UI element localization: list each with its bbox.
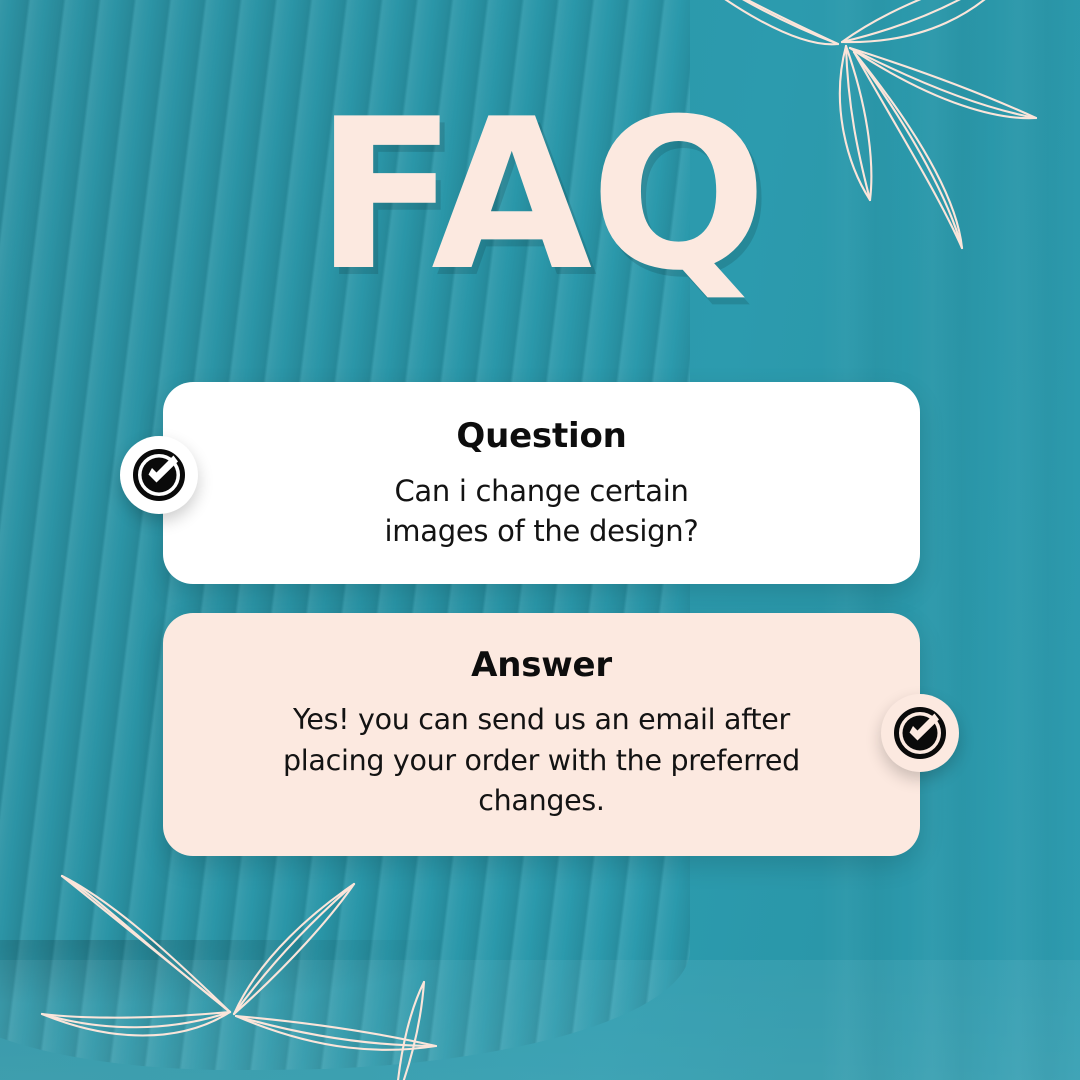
question-heading: Question — [219, 416, 864, 457]
faq-graphic: FAQ Question Can i change certain images… — [0, 0, 1080, 1080]
check-circle-icon — [131, 447, 187, 503]
question-card: Question Can i change certain images of … — [163, 382, 920, 584]
question-body: Can i change certain images of the desig… — [219, 471, 864, 551]
answer-card: Answer Yes! you can send us an email aft… — [163, 613, 920, 856]
question-check-badge — [120, 436, 198, 514]
answer-heading: Answer — [219, 645, 864, 686]
answer-body: Yes! you can send us an email after plac… — [219, 700, 864, 822]
check-circle-icon — [892, 705, 948, 761]
answer-check-badge — [881, 694, 959, 772]
page-title: FAQ — [0, 92, 1080, 300]
